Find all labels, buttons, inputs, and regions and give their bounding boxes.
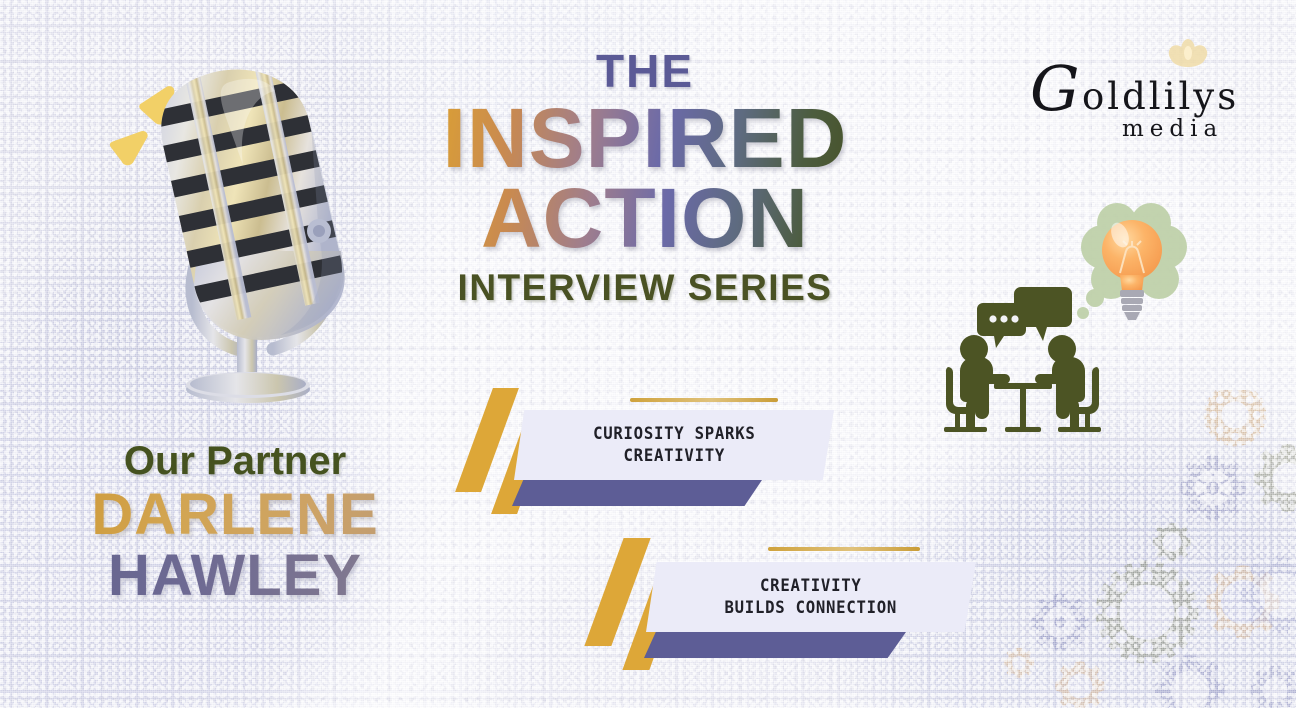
- title-line-the: THE: [420, 48, 870, 94]
- banner-2-text: CREATIVITY BUILDS CONNECTION: [725, 575, 898, 619]
- two-people-interview-icon: [935, 275, 1110, 435]
- quote-banner-1: CURIOSITY SPARKS CREATIVITY: [462, 388, 882, 513]
- banner-2-bottom-bar: [644, 632, 906, 658]
- partner-last-name: HAWLEY: [45, 545, 425, 608]
- banner-1-line-2: CREATIVITY: [593, 445, 755, 467]
- title-line-action: ACTION: [420, 176, 870, 262]
- partner-block: Our Partner DARLENE HAWLEY: [45, 440, 425, 607]
- gears-decoration: [985, 390, 1296, 708]
- partner-label: Our Partner: [45, 440, 425, 482]
- goldlilys-media-logo: G oldlilys media: [1030, 52, 1260, 147]
- partner-first-name: DARLENE: [45, 484, 425, 547]
- title-block: THE INSPIRED ACTION INTERVIEW SERIES: [420, 48, 870, 309]
- banner-2-gold-accent-line: [768, 547, 920, 551]
- banner-1-text: CURIOSITY SPARKS CREATIVITY: [593, 423, 755, 467]
- banner-2-line-1: CREATIVITY: [725, 575, 898, 597]
- banner-2-panel: CREATIVITY BUILDS CONNECTION: [646, 562, 976, 632]
- title-line-interview-series: INTERVIEW SERIES: [420, 267, 870, 309]
- logo-subtitle: media: [1122, 118, 1223, 141]
- banner-1-gold-accent-line: [630, 398, 778, 402]
- logo-wordmark: oldlilys: [1082, 78, 1239, 115]
- title-line-inspired: INSPIRED: [420, 96, 870, 182]
- logo-mark-letter: G: [1030, 58, 1080, 120]
- slide-canvas: THE INSPIRED ACTION INTERVIEW SERIES G o…: [0, 0, 1296, 708]
- banner-1-panel: CURIOSITY SPARKS CREATIVITY: [514, 410, 834, 480]
- lotus-flower-icon: [1163, 36, 1213, 70]
- banner-1-line-1: CURIOSITY SPARKS: [593, 423, 755, 445]
- banner-1-bottom-bar: [512, 480, 762, 506]
- banner-2-line-2: BUILDS CONNECTION: [725, 597, 898, 619]
- retro-microphone-icon: [105, 55, 365, 410]
- quote-banner-2: CREATIVITY BUILDS CONNECTION: [588, 534, 1008, 664]
